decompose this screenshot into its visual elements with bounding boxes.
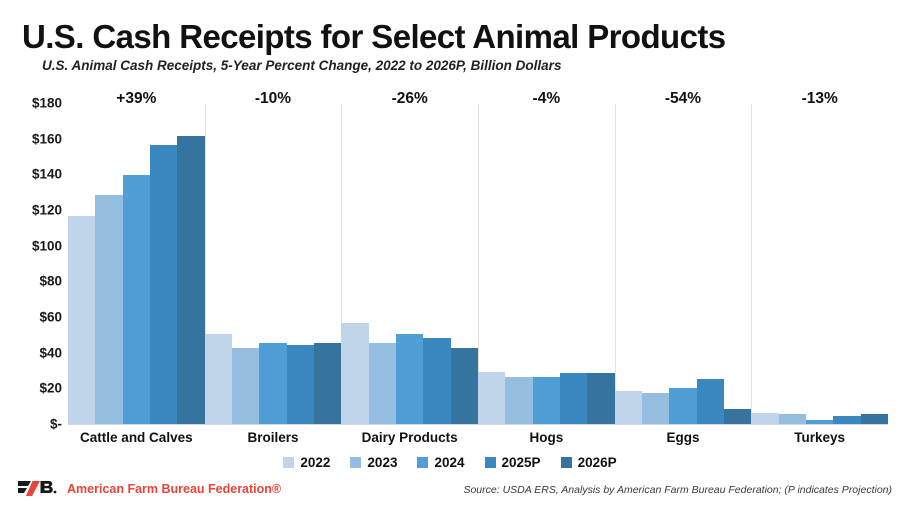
bar-group: -4%Hogs [478, 104, 615, 425]
bar-2022-cattle-and-calves[interactable] [68, 216, 95, 425]
legend-label: 2026P [578, 455, 617, 470]
y-axis-tick: $100 [0, 238, 62, 253]
y-axis-tick: $20 [0, 381, 62, 396]
legend-swatch-icon [485, 457, 496, 468]
y-axis-tick: $160 [0, 131, 62, 146]
y-axis-tick: $140 [0, 167, 62, 182]
bar-2025p-cattle-and-calves[interactable] [150, 145, 177, 425]
bar-2025p-dairy-products[interactable] [423, 338, 450, 425]
bar-2023-broilers[interactable] [232, 348, 259, 425]
bar-2024-hogs[interactable] [533, 377, 560, 425]
bar-2023-hogs[interactable] [505, 377, 532, 425]
bar-2026p-hogs[interactable] [587, 373, 614, 425]
y-axis-tick: $60 [0, 310, 62, 325]
bar-2023-eggs[interactable] [642, 393, 669, 425]
bar-group: -26%Dairy Products [341, 104, 478, 425]
y-axis-tick: $180 [0, 96, 62, 111]
bars-container [205, 104, 342, 425]
page-subtitle: U.S. Animal Cash Receipts, 5-Year Percen… [42, 58, 561, 73]
x-axis-baseline [68, 424, 888, 425]
bars-container [478, 104, 615, 425]
bar-2022-eggs[interactable] [615, 391, 642, 425]
bar-group: -10%Broilers [205, 104, 342, 425]
legend-label: 2023 [367, 455, 397, 470]
chart-page: U.S. Cash Receipts for Select Animal Pro… [0, 0, 900, 505]
page-title: U.S. Cash Receipts for Select Animal Pro… [22, 18, 882, 56]
bar-group: -13%Turkeys [751, 104, 888, 425]
bars-container [68, 104, 205, 425]
bar-2026p-dairy-products[interactable] [451, 348, 478, 425]
legend-item-2022[interactable]: 2022 [283, 455, 330, 470]
legend-item-2025p[interactable]: 2025P [485, 455, 541, 470]
legend-swatch-icon [417, 457, 428, 468]
bars-container [615, 104, 752, 425]
bar-2026p-eggs[interactable] [724, 409, 751, 425]
legend-swatch-icon [350, 457, 361, 468]
bar-2024-eggs[interactable] [669, 388, 696, 425]
chart-legend: 2022202320242025P2026P [0, 455, 900, 470]
bar-2023-cattle-and-calves[interactable] [95, 195, 122, 425]
legend-swatch-icon [561, 457, 572, 468]
legend-item-2024[interactable]: 2024 [417, 455, 464, 470]
bars-container [751, 104, 888, 425]
y-axis-tick: $120 [0, 203, 62, 218]
bar-2026p-broilers[interactable] [314, 343, 341, 425]
bar-group: +39%Cattle and Calves [68, 104, 205, 425]
y-axis-tick: $40 [0, 345, 62, 360]
category-label: Turkeys [731, 430, 900, 445]
bar-2026p-cattle-and-calves[interactable] [177, 136, 204, 425]
legend-label: 2022 [300, 455, 330, 470]
bar-2024-dairy-products[interactable] [396, 334, 423, 425]
bar-2024-cattle-and-calves[interactable] [123, 175, 150, 425]
bar-2022-hogs[interactable] [478, 372, 505, 426]
legend-swatch-icon [283, 457, 294, 468]
plot-area: +39%Cattle and Calves-10%Broilers-26%Dai… [68, 104, 888, 425]
afbf-logo-text: American Farm Bureau Federation® [67, 482, 281, 496]
bar-2025p-eggs[interactable] [697, 379, 724, 425]
source-note: Source: USDA ERS, Analysis by American F… [463, 484, 892, 496]
y-axis-tick: $80 [0, 274, 62, 289]
y-axis: $180$160$140$120$100$80$60$40$20$- [0, 98, 62, 428]
afbf-logo: American Farm Bureau Federation® [18, 479, 281, 498]
bar-2023-dairy-products[interactable] [369, 343, 396, 425]
bar-2022-dairy-products[interactable] [341, 323, 368, 425]
legend-label: 2025P [502, 455, 541, 470]
bars-container [341, 104, 478, 425]
legend-label: 2024 [434, 455, 464, 470]
bar-2025p-broilers[interactable] [287, 345, 314, 425]
legend-item-2023[interactable]: 2023 [350, 455, 397, 470]
bar-2024-broilers[interactable] [259, 343, 286, 425]
bar-group: -54%Eggs [615, 104, 752, 425]
bar-2022-broilers[interactable] [205, 334, 232, 425]
bar-2025p-hogs[interactable] [560, 373, 587, 425]
legend-item-2026p[interactable]: 2026P [561, 455, 617, 470]
plot-inner: +39%Cattle and Calves-10%Broilers-26%Dai… [68, 104, 888, 425]
afbf-fb-logo-icon [18, 479, 58, 498]
